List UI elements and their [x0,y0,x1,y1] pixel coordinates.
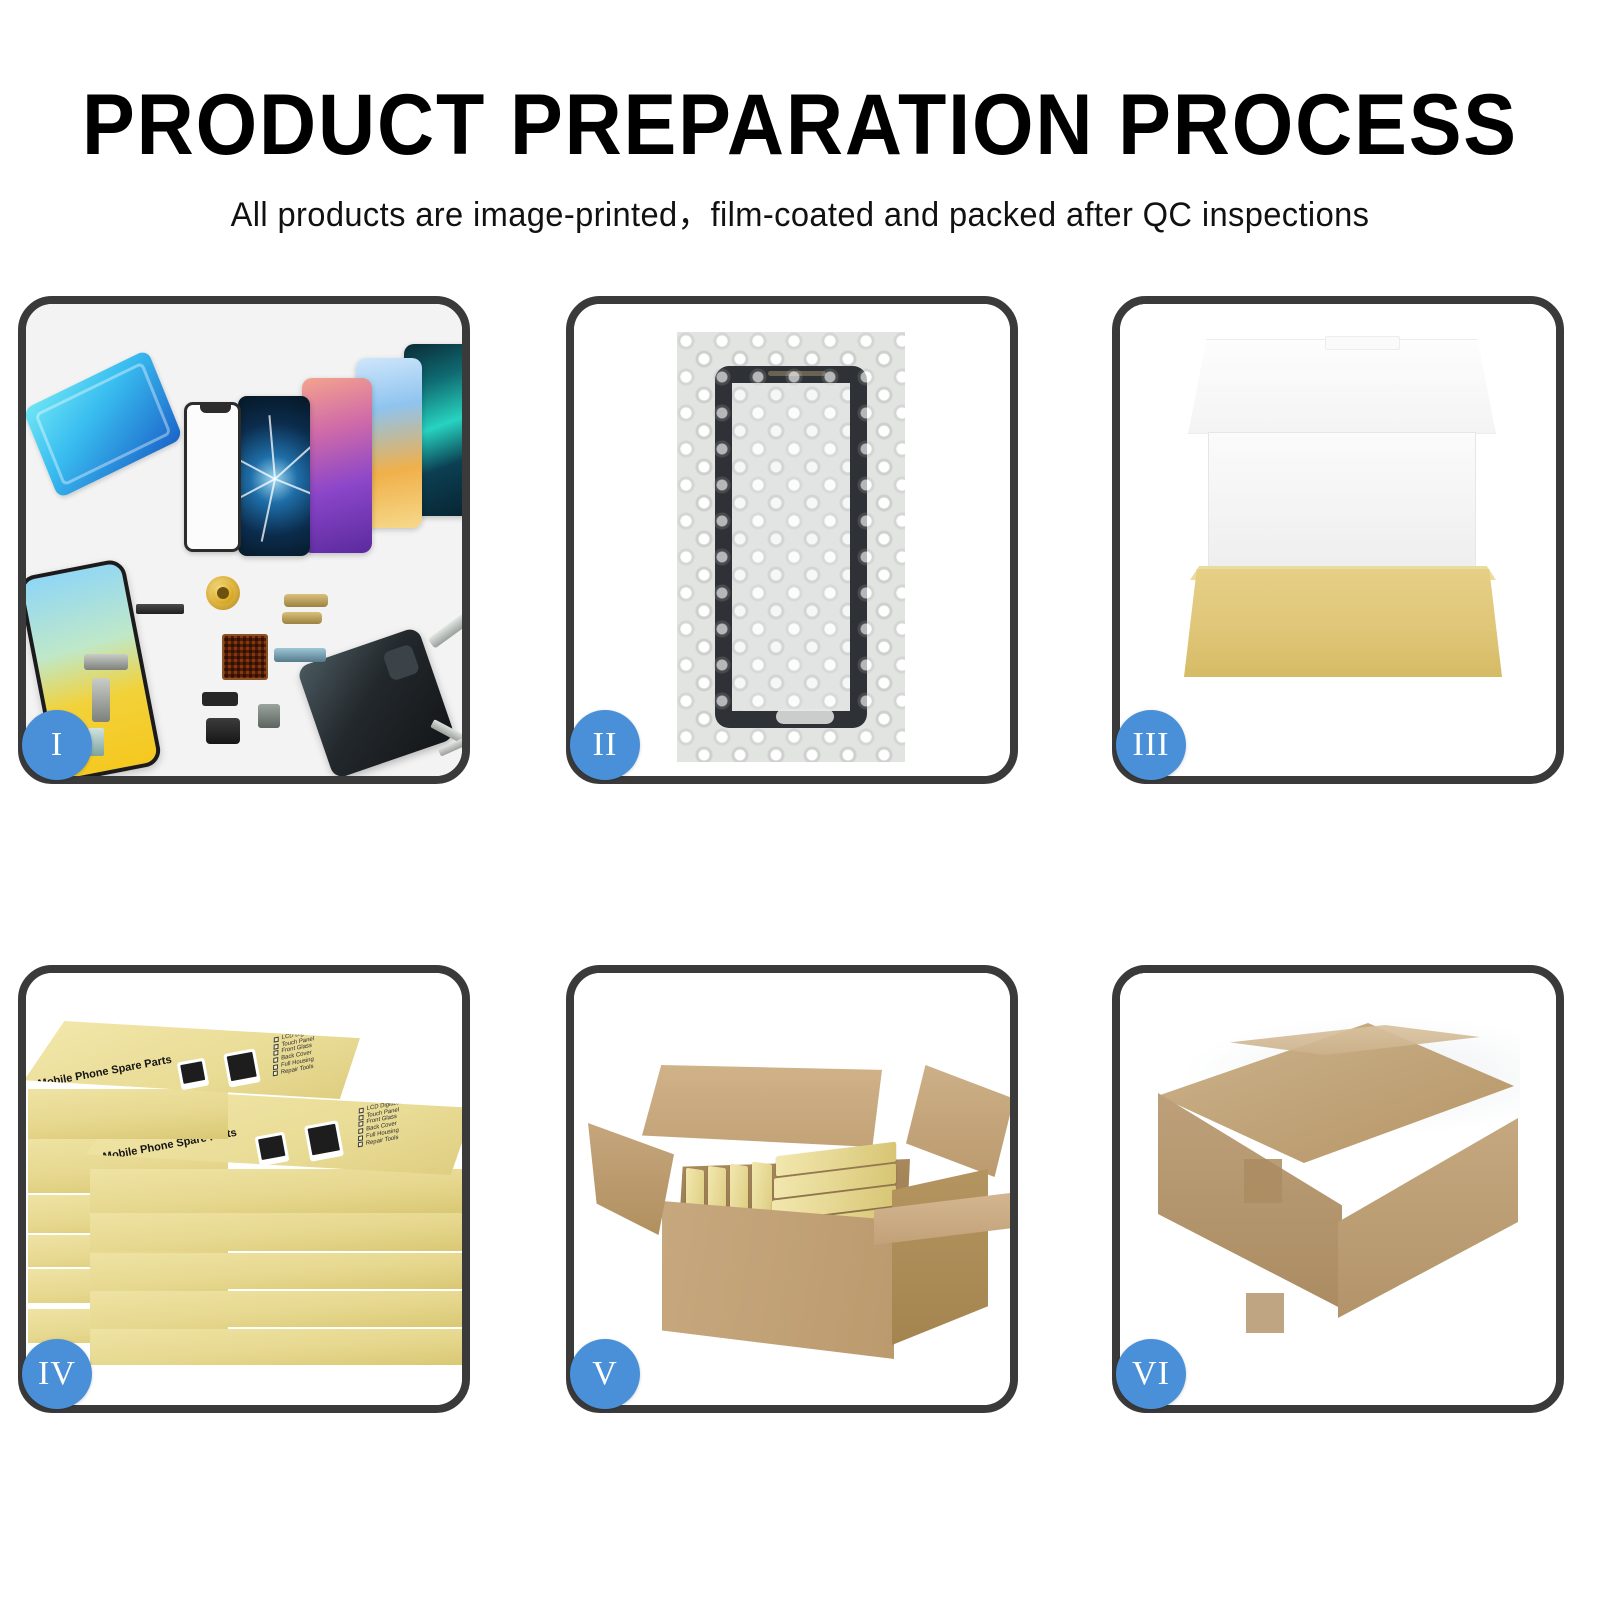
ic-chip-part [222,634,268,680]
step-1-image [26,304,462,776]
checkbox-icon [357,1142,362,1148]
retail-box-thumb-1b [223,1048,261,1087]
step-badge-2: II [570,710,640,780]
step-panel-4: Mobile Phone Spare Parts LCD Digitizer T… [18,965,470,1413]
sealed-carton-right-face [1338,1118,1518,1318]
step-panel-3: III [1112,296,1564,784]
step-panel-5: V [566,965,1018,1413]
carton-left-flap [588,1123,674,1235]
carton-right-flap [906,1065,1010,1177]
retail-box-slab [90,1253,462,1289]
step-panel-6: VI [1112,965,1564,1413]
loudspeaker-part [206,718,240,744]
battery-connector-part [202,692,238,706]
retail-box-top-1: Mobile Phone Spare Parts LCD Digitizer T… [26,1021,360,1099]
mailer-lid-back-flap [1188,339,1496,434]
retail-box-checklist-2: LCD Digitizer Touch Panel Front Glass Ba… [357,1100,401,1149]
mailer-lid-panel [1208,432,1476,572]
adhesive-frame-part [26,349,183,499]
retail-box-slab [90,1211,462,1251]
carton-front-face [662,1201,894,1359]
vibration-motor-part [206,576,240,610]
phone-screen-under-wrap [715,366,867,728]
step-badge-6: VI [1116,1339,1186,1409]
retail-box-checklist-1: LCD Digitizer Touch Panel Front Glass Ba… [272,1029,316,1078]
retail-box-slab [90,1291,462,1327]
phone-parts-collage-image [26,304,462,776]
step-badge-4: IV [22,1339,92,1409]
step-badge-5: V [570,1339,640,1409]
carton-flap-tab-upper [1244,1159,1282,1203]
camera-module-part [258,704,280,728]
kraft-mailer-tray [1184,569,1502,677]
stacked-retail-boxes-image: Mobile Phone Spare Parts LCD Digitizer T… [26,973,462,1405]
step-panel-2: II [566,296,1018,784]
retail-box-thumb-2b [304,1121,344,1163]
flex-cable-part-2 [282,612,322,624]
step-3-image [1120,304,1556,776]
repair-tool-1 [428,607,462,648]
carton-filling-image [574,973,1010,1405]
sealed-carton-image [1120,973,1556,1405]
infographic-page: PRODUCT PREPARATION PROCESS All products… [0,0,1600,1600]
tempered-glass-part [184,402,241,552]
carton-side-face [892,1169,988,1345]
checkbox-icon [272,1071,277,1077]
earpiece-speaker-part [136,604,184,614]
step-badge-3: III [1116,710,1186,780]
retail-box-thumb-2a [254,1131,289,1166]
retail-box-slab [28,1089,228,1139]
bubble-wrap-sheet [677,332,905,762]
process-step-grid: I II [0,0,1600,1600]
flex-cable-part-3 [274,648,326,662]
step-5-image [574,973,1010,1405]
carton-flap-tab-lower [1246,1293,1284,1333]
flex-cable-part-1 [284,594,328,607]
step-2-image [574,304,1010,776]
flex-cable-part-5 [92,678,110,722]
retail-box-slab [90,1329,462,1365]
retail-box-thumb-1a [176,1058,209,1091]
step-badge-1: I [22,710,92,780]
carton-back-flap [642,1065,882,1147]
boxed-screen-image [1120,304,1556,776]
step-6-image [1120,973,1556,1405]
phone-cracked-screen [238,396,310,556]
flex-cable-part-4 [84,654,128,670]
retail-box-brand-1: Mobile Phone Spare Parts [37,1054,173,1091]
phone-purple [302,378,372,553]
step-4-image: Mobile Phone Spare Parts LCD Digitizer T… [26,973,462,1405]
step-panel-1: I [18,296,470,784]
mailer-lid-tab [1325,336,1400,350]
bubble-wrapped-screen-image [574,304,1010,776]
retail-box-slab [90,1169,462,1213]
